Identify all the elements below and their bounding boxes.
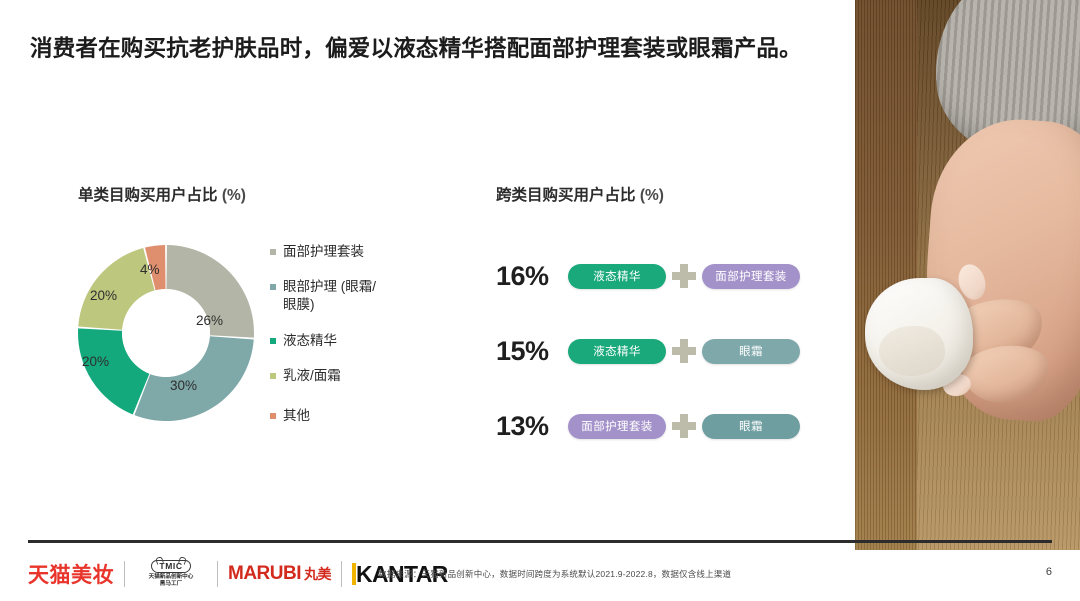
photo-dish-interior	[879, 326, 945, 376]
pair-pill-left[interactable]: 液态精华	[568, 264, 666, 289]
legend-swatch-icon	[270, 413, 276, 419]
legend-item-eye-care[interactable]: 眼部护理 (眼霜/ 眼膜)	[270, 278, 445, 314]
plus-icon	[671, 413, 697, 439]
slice-label-eye-care: 30%	[170, 378, 197, 393]
pair-row: 15% 液态精华 眼霜	[496, 330, 826, 372]
plus-icon	[671, 338, 697, 364]
pair-row: 13% 面部护理套装 眼霜	[496, 405, 826, 447]
chart-title-single-text: 单类目购买用户占比	[78, 187, 218, 204]
footer: 天猫美妆 TMIC 天猫新品创新中心 黑马工厂 MARUBI丸美 KANTAR …	[0, 546, 1080, 601]
pair-pill-right[interactable]: 眼霜	[702, 339, 800, 364]
chart-title-cross: 跨类目购买用户占比 (%)	[496, 183, 826, 205]
logo-tmall-beauty: 天猫美妆	[28, 559, 114, 589]
legend-item-lotion-cream[interactable]: 乳液/面霜	[270, 367, 445, 385]
footer-divider	[28, 540, 1052, 543]
product-photo	[855, 0, 1080, 550]
slice-label-other: 4%	[140, 262, 160, 277]
pair-percent: 16%	[496, 261, 568, 292]
pair-pill-left[interactable]: 液态精华	[568, 339, 666, 364]
slice-label-facial-set: 26%	[196, 313, 223, 328]
pair-pill-right[interactable]: 面部护理套装	[702, 264, 800, 289]
tmic-subtitle: 天猫新品创新中心 黑马工厂	[149, 574, 194, 588]
legend-swatch-icon	[270, 249, 276, 255]
pair-pill-left[interactable]: 面部护理套装	[568, 414, 666, 439]
chart-title-cross-text: 跨类目购买用户占比	[496, 187, 636, 204]
chart-title-cross-unit: (%)	[640, 187, 664, 204]
logo-separator	[124, 561, 125, 587]
tmic-badge-text: TMIC	[151, 560, 190, 573]
donut-chart: 26% 30% 20% 20% 4%	[78, 245, 254, 421]
logo-separator	[341, 561, 342, 587]
logo-separator	[217, 561, 218, 587]
page-title: 消费者在购买抗老护肤品时，偏爱以液态精华搭配面部护理套装或眼霜产品。	[30, 33, 820, 65]
photo-ceramic-dish	[865, 278, 973, 390]
legend-swatch-icon	[270, 338, 276, 344]
slide-canvas: 消费者在购买抗老护肤品时，偏爱以液态精华搭配面部护理套装或眼霜产品。 单类目购买…	[0, 0, 1080, 601]
legend-swatch-icon	[270, 373, 276, 379]
legend-item-other[interactable]: 其他	[270, 407, 445, 425]
pair-row-list: 16% 液态精华 面部护理套装 15% 液态精华 眼霜	[496, 255, 826, 480]
logo-marubi-cn: 丸美	[304, 566, 331, 582]
photo-wood-background-left	[855, 0, 917, 550]
donut-hole	[122, 289, 210, 377]
single-category-chart: 单类目购买用户占比 (%) 26% 30% 20% 20% 4% 面部护理套装 …	[78, 183, 438, 453]
logo-tmic: TMIC 天猫新品创新中心 黑马工厂	[135, 560, 207, 588]
legend-item-facial-set[interactable]: 面部护理套装	[270, 243, 445, 261]
slice-label-liquid-essence: 20%	[82, 354, 109, 369]
source-note: 数据来源：天猫新品创新中心，数据时间跨度为系统默认2021.9-2022.8，数…	[378, 568, 731, 580]
donut-legend: 面部护理套装 眼部护理 (眼霜/ 眼膜) 液态精华 乳液/面霜 其他	[270, 243, 445, 442]
pair-percent: 15%	[496, 336, 568, 367]
logo-marubi-en: MARUBI	[228, 563, 301, 584]
pair-row: 16% 液态精华 面部护理套装	[496, 255, 826, 297]
legend-swatch-icon	[270, 284, 276, 290]
cross-category-chart: 跨类目购买用户占比 (%) 16% 液态精华 面部护理套装 15% 液态精华	[496, 183, 826, 463]
pair-pill-right[interactable]: 眼霜	[702, 414, 800, 439]
page-number: 6	[1046, 566, 1052, 578]
pair-percent: 13%	[496, 411, 568, 442]
legend-label: 其他	[283, 407, 310, 425]
legend-label: 面部护理套装	[283, 243, 364, 261]
legend-label: 液态精华	[283, 332, 337, 350]
chart-title-single-unit: (%)	[222, 187, 246, 204]
plus-icon	[671, 263, 697, 289]
slice-label-lotion-cream: 20%	[90, 288, 117, 303]
chart-title-single: 单类目购买用户占比 (%)	[78, 183, 438, 205]
legend-label: 眼部护理 (眼霜/ 眼膜)	[283, 278, 376, 314]
legend-item-liquid-essence[interactable]: 液态精华	[270, 332, 445, 350]
logo-marubi: MARUBI丸美	[228, 563, 331, 585]
legend-label: 乳液/面霜	[283, 367, 341, 385]
